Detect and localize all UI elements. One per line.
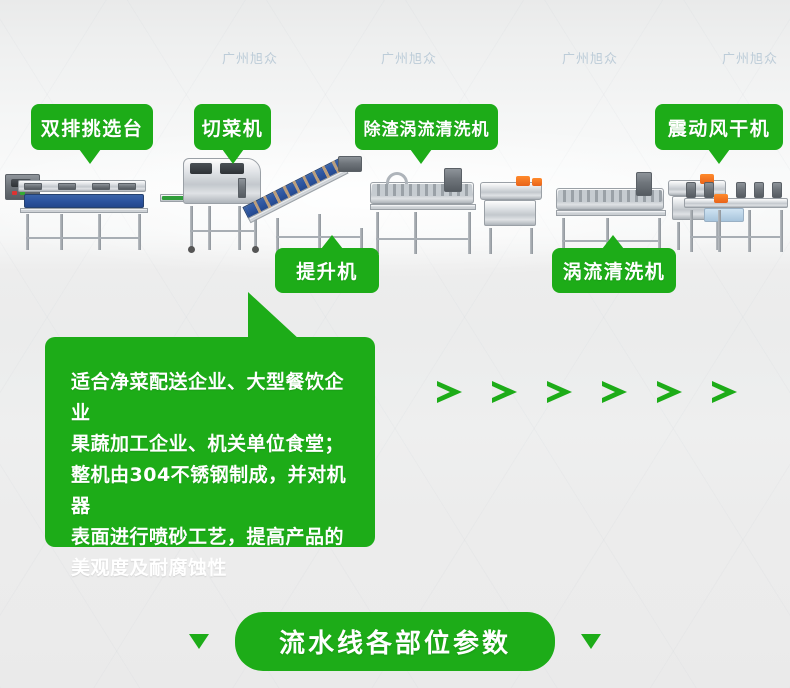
- callout-label: 切菜机: [202, 114, 264, 141]
- watermark: 广州旭众: [562, 48, 618, 67]
- cutter-control-panel: [188, 162, 256, 176]
- production-line-image: [0, 150, 790, 260]
- vortex-washer-mesh: [372, 184, 472, 196]
- callout-elevator[interactable]: 提升机: [275, 248, 379, 293]
- product-infographic: 广州旭众 广州旭众 广州旭众 广州旭众: [0, 0, 790, 688]
- callout-tail-icon: [222, 149, 244, 164]
- transfer-unit-cabinet: [672, 196, 722, 220]
- cutter-infeed-tray: [160, 194, 200, 202]
- callout-sorting-table[interactable]: 双排挑选台: [31, 104, 153, 150]
- sorting-table-frame: [20, 208, 148, 213]
- vortex-cleaner-mesh: [558, 190, 662, 202]
- vortex-cleaner-tank: [556, 188, 664, 210]
- transfer-unit-motor: [700, 174, 714, 184]
- dewatering-unit-legs: [486, 226, 536, 254]
- watermark: 广州旭众: [222, 48, 278, 67]
- air-dryer-blower-row: [686, 182, 786, 202]
- air-dryer-window: [704, 208, 744, 222]
- sorting-table-legs: [20, 213, 150, 250]
- elevator-drive-head: [338, 156, 362, 172]
- transfer-unit-body: [668, 180, 726, 196]
- callout-label: 涡流清洗机: [563, 257, 666, 284]
- dewatering-unit-body: [480, 182, 542, 200]
- triangle-down-icon-left: [189, 634, 209, 649]
- cutter-main-body: [183, 158, 261, 204]
- callout-label: 提升机: [296, 257, 358, 284]
- sorting-table-belt: [24, 194, 144, 208]
- callout-label: 双排挑选台: [41, 114, 144, 141]
- callout-tail-icon: [602, 235, 624, 249]
- cutter-legs: [186, 204, 260, 250]
- cutter-side-hatch: [238, 178, 246, 198]
- machine-control-box-sorting: [5, 174, 40, 200]
- triangle-down-icon-right: [581, 634, 601, 649]
- air-dryer-legs: [686, 208, 786, 252]
- watermark: 广州旭众: [381, 48, 437, 67]
- callout-vegetable-cutter[interactable]: 切菜机: [194, 104, 271, 150]
- sorting-table-trays: [22, 180, 140, 196]
- vortex-washer-frame: [370, 204, 476, 210]
- callout-tail-icon: [410, 149, 432, 164]
- dewatering-unit-motor: [516, 176, 530, 186]
- sorting-table-top: [18, 180, 146, 192]
- section-banner-title: 流水线各部位参数: [235, 612, 555, 671]
- callout-tail-icon: [321, 235, 343, 249]
- description-text: 适合净菜配送企业、大型餐饮企业 果蔬加工企业、机关单位食堂； 整机由304不锈钢…: [71, 367, 349, 584]
- callout-tail-icon: [79, 149, 101, 164]
- callout-residue-vortex-washer[interactable]: 除渣涡流清洗机: [355, 104, 498, 150]
- callout-label: 除渣涡流清洗机: [364, 115, 490, 140]
- dewatering-unit-motor-2: [532, 178, 542, 186]
- air-dryer-conveyor: [684, 198, 788, 208]
- callout-tail-icon: [708, 149, 730, 164]
- vortex-washer-tank: [370, 182, 474, 204]
- watermark: 广州旭众: [722, 48, 778, 67]
- section-banner: 流水线各部位参数: [0, 612, 790, 671]
- vortex-washer-legs: [372, 210, 476, 254]
- cutter-infeed-belt: [162, 196, 198, 200]
- transfer-unit-legs: [674, 220, 722, 250]
- vortex-washer-control-box: [444, 168, 462, 192]
- description-bubble-tail-icon: [248, 292, 300, 340]
- callout-label: 震动风干机: [668, 114, 771, 141]
- callout-vortex-cleaner[interactable]: 涡流清洗机: [552, 248, 676, 293]
- vortex-cleaner-frame: [556, 210, 666, 216]
- vortex-cleaner-control-box: [636, 172, 652, 196]
- dewatering-unit-cabinet: [484, 200, 536, 226]
- callout-vibration-air-dryer[interactable]: 震动风干机: [655, 104, 783, 150]
- vortex-washer-arch: [386, 172, 408, 184]
- description-bubble: 适合净菜配送企业、大型餐饮企业 果蔬加工企业、机关单位食堂； 整机由304不锈钢…: [45, 337, 375, 547]
- air-dryer-vibration-motor: [714, 194, 728, 203]
